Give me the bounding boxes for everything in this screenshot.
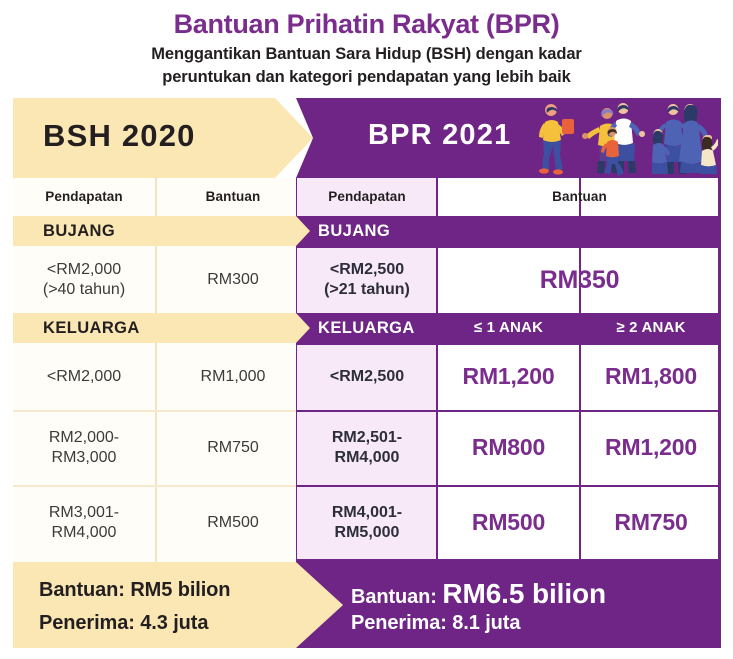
- cell-bpr-keluarga-1-anak1: RM1,200: [438, 343, 579, 410]
- bpr-year-label: BPR 2021: [368, 119, 511, 152]
- cell-text-line2: RM4,000: [52, 523, 117, 542]
- cell-text-line2: RM3,000: [52, 448, 117, 467]
- footer-bsh-panel: [13, 562, 343, 648]
- cell-text-line1: <RM2,500: [330, 367, 404, 386]
- cell-text-line1: RM4,001-: [332, 503, 402, 522]
- page-title: Bantuan Prihatin Rakyat (BPR): [0, 0, 733, 39]
- band-label-bsh-bujang: BUJANG: [43, 216, 115, 246]
- header-anak-1: ≤ 1 ANAK: [438, 313, 579, 343]
- cell-text-line1: RM2,501-: [332, 428, 402, 447]
- cell-bpr-keluarga-1-income: <RM2,500: [297, 343, 437, 410]
- header-bsh-income: Pendapatan: [13, 178, 155, 216]
- subtitle-line-1: Menggantikan Bantuan Sara Hidup (BSH) de…: [0, 43, 733, 66]
- bsh-year-label: BSH 2020: [43, 118, 196, 154]
- header-bpr-aid: Bantuan: [438, 178, 721, 216]
- cell-bpr-keluarga-1-anak2: RM1,800: [581, 343, 721, 410]
- cell-bsh-keluarga-1-income: <RM2,000: [13, 343, 155, 410]
- cell-text-line1: <RM2,000: [47, 367, 121, 386]
- cell-text-line2: (>40 tahun): [43, 280, 125, 299]
- comparison-infographic: BSH 2020 BPR 2021: [13, 98, 721, 648]
- cell-text-line2: RM5,000: [335, 523, 400, 542]
- header-bsh-aid: Bantuan: [156, 178, 310, 216]
- subtitle-line-2: peruntukan dan kategori pendapatan yang …: [0, 66, 733, 89]
- cell-bpr-keluarga-3-anak2: RM750: [581, 485, 721, 560]
- cell-bsh-keluarga-3-amount: RM500: [156, 485, 310, 560]
- cell-text-line1: <RM2,000: [47, 260, 121, 279]
- cell-bpr-bujang-amount: RM350: [438, 246, 721, 313]
- footer-bpr-penerima: Penerima: 8.1 juta: [351, 612, 520, 635]
- cell-bsh-keluarga-3-income: RM3,001- RM4,000: [13, 485, 155, 560]
- cell-text-line1: RM3,001-: [49, 503, 119, 522]
- footer-summary: Bantuan: RM5 bilion Penerima: 4.3 juta B…: [13, 562, 721, 648]
- cell-bsh-keluarga-2-income: RM2,000- RM3,000: [13, 410, 155, 485]
- cell-bpr-keluarga-2-income: RM2,501- RM4,000: [297, 410, 437, 485]
- title-block: Bantuan Prihatin Rakyat (BPR) Menggantik…: [0, 0, 733, 89]
- cell-bpr-keluarga-3-income: RM4,001- RM5,000: [297, 485, 437, 560]
- cell-bsh-bujang-income: <RM2,000 (>40 tahun): [13, 246, 155, 313]
- band-label-bsh-keluarga: KELUARGA: [43, 313, 140, 343]
- cell-text-line1: RM2,000-: [49, 428, 119, 447]
- people-group-illustration: [523, 102, 718, 176]
- banner: BSH 2020 BPR 2021: [13, 98, 721, 178]
- band-label-bpr-bujang: BUJANG: [318, 216, 390, 246]
- band-label-bpr-keluarga: KELUARGA: [318, 313, 415, 343]
- cell-bpr-keluarga-3-anak1: RM500: [438, 485, 579, 560]
- cell-text-line2: RM4,000: [335, 448, 400, 467]
- footer-bpr-bantuan-label: Bantuan:: [351, 586, 437, 608]
- cell-text-line2: (>21 tahun): [324, 280, 410, 299]
- cell-bsh-keluarga-2-amount: RM750: [156, 410, 310, 485]
- cell-bpr-keluarga-2-anak2: RM1,200: [581, 410, 721, 485]
- footer-bpr-bantuan: Bantuan: RM6.5 bilion: [351, 578, 606, 610]
- cell-text-line1: <RM2,500: [330, 260, 404, 279]
- comparison-table: Pendapatan Bantuan Pendapatan Bantuan BU…: [13, 178, 721, 562]
- cell-bsh-keluarga-1-amount: RM1,000: [156, 343, 310, 410]
- cell-bpr-keluarga-2-anak1: RM800: [438, 410, 579, 485]
- footer-bsh-penerima: Penerima: 4.3 juta: [39, 612, 208, 635]
- cell-bpr-bujang-income: <RM2,500 (>21 tahun): [297, 246, 437, 313]
- footer-bpr-bantuan-value: RM6.5 bilion: [442, 578, 606, 609]
- header-bpr-income: Pendapatan: [297, 178, 437, 216]
- footer-bsh-bantuan: Bantuan: RM5 bilion: [39, 579, 230, 602]
- header-anak-2: ≥ 2 ANAK: [581, 313, 721, 343]
- cell-bsh-bujang-amount: RM300: [156, 246, 310, 313]
